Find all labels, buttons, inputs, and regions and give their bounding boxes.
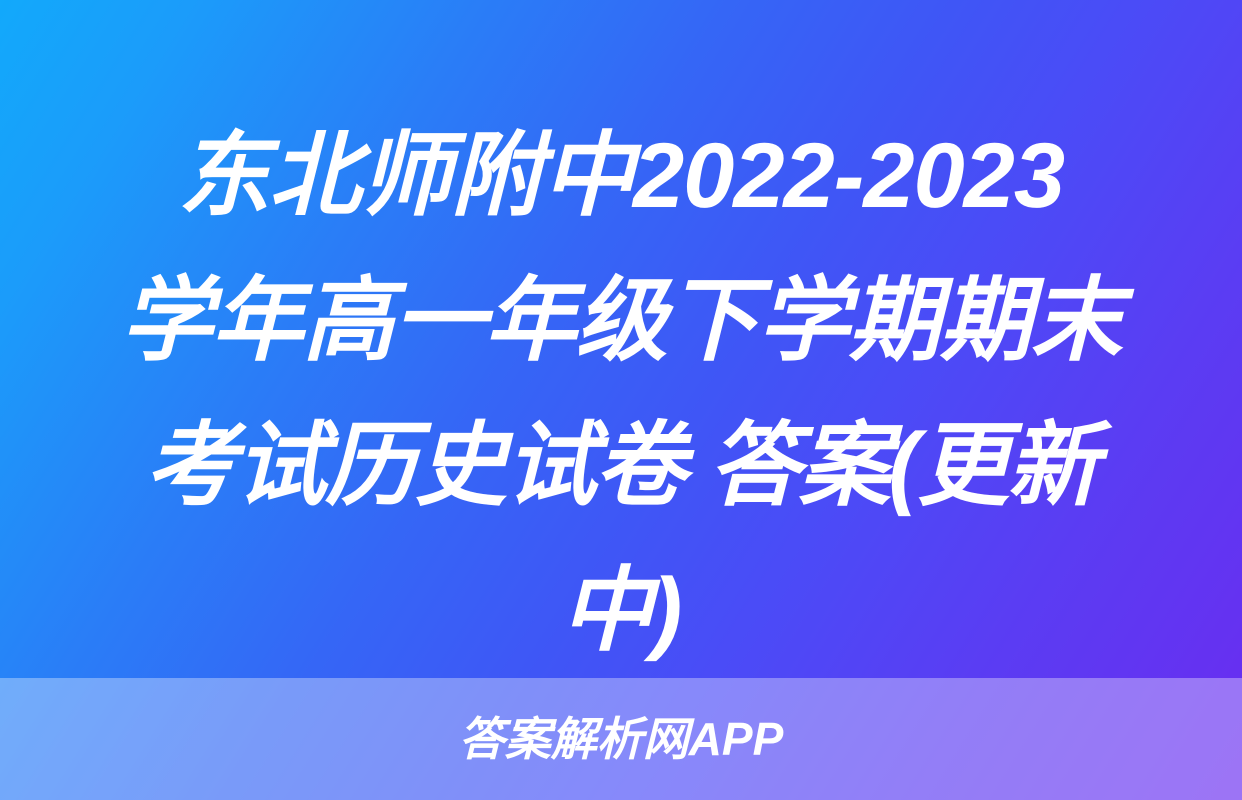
banner-title: 东北师附中2022-2023 学年高一年级下学期期末 考试历史试卷 答案(更新 …	[0, 104, 1242, 684]
title-line-3: 考试历史试卷 答案(更新	[72, 394, 1170, 539]
promo-banner: 东北师附中2022-2023 学年高一年级下学期期末 考试历史试卷 答案(更新 …	[0, 0, 1242, 800]
title-line-2: 学年高一年级下学期期末	[72, 249, 1170, 394]
title-line-4: 中)	[72, 539, 1170, 684]
title-line-1: 东北师附中2022-2023	[72, 104, 1170, 249]
app-watermark: 答案解析网APP	[459, 716, 784, 762]
footer-overlay-bar: 答案解析网APP	[0, 678, 1242, 800]
